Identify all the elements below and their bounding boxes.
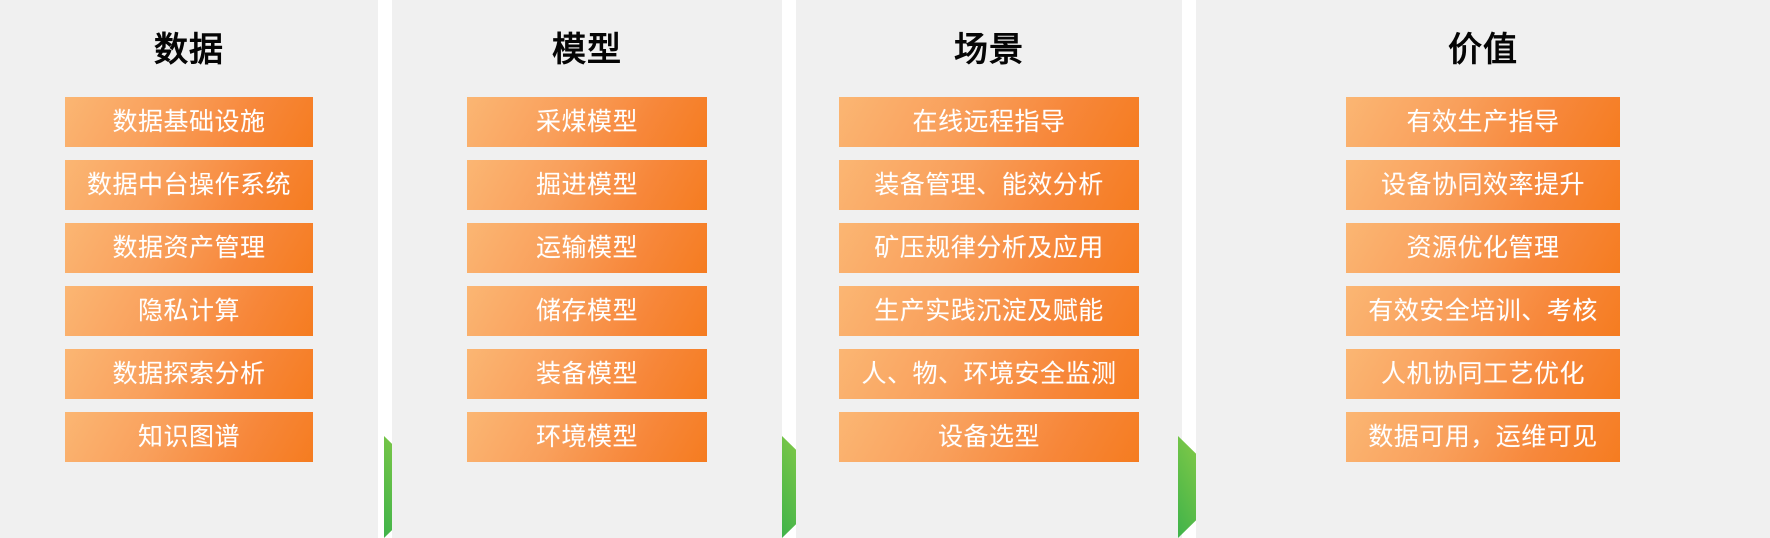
flow-item[interactable]: 掘进模型 [467, 160, 707, 210]
flow-item[interactable]: 生产实践沉淀及赋能 [839, 286, 1138, 336]
flow-item-label: 掘进模型 [536, 160, 638, 210]
flow-item-label: 生产实践沉淀及赋能 [874, 286, 1104, 336]
flow-item-label: 矿压规律分析及应用 [874, 223, 1104, 273]
flow-item-label: 人机协同工艺优化 [1381, 349, 1585, 399]
flow-item-label: 隐私计算 [138, 286, 240, 336]
flow-item-label: 数据探索分析 [112, 349, 265, 399]
flow-item-label: 数据资产管理 [112, 223, 265, 273]
flow-item-label: 数据中台操作系统 [87, 160, 291, 210]
column-items-value: 有效生产指导 设备协同效率提升 资源优化管理 有效安全培训、考核 人机协同工艺优… [1196, 97, 1770, 462]
flow-item-label: 装备管理、能效分析 [874, 160, 1104, 210]
flow-item-label: 储存模型 [536, 286, 638, 336]
flow-diagram: 数据 数据基础设施 数据中台操作系统 数据资产管理 隐私计算 数据探索分析 知识… [0, 0, 1770, 538]
flow-item[interactable]: 人、物、环境安全监测 [839, 349, 1138, 399]
flow-item-label: 环境模型 [536, 412, 638, 462]
column-items-scene: 在线远程指导 装备管理、能效分析 矿压规律分析及应用 生产实践沉淀及赋能 人、物… [796, 97, 1182, 462]
flow-item[interactable]: 储存模型 [467, 286, 707, 336]
flow-item[interactable]: 环境模型 [467, 412, 707, 462]
flow-column-value: 价值 有效生产指导 设备协同效率提升 资源优化管理 有效安全培训、考核 人机协同… [1196, 0, 1770, 538]
flow-item[interactable]: 资源优化管理 [1346, 223, 1620, 273]
flow-item[interactable]: 设备协同效率提升 [1346, 160, 1620, 210]
flow-item[interactable]: 数据可用，运维可见 [1346, 412, 1620, 462]
flow-item[interactable]: 知识图谱 [65, 412, 313, 462]
column-items-data: 数据基础设施 数据中台操作系统 数据资产管理 隐私计算 数据探索分析 知识图谱 [0, 97, 378, 462]
flow-column-scene: 场景 在线远程指导 装备管理、能效分析 矿压规律分析及应用 生产实践沉淀及赋能 … [796, 0, 1182, 538]
flow-item-label: 设备选型 [938, 412, 1040, 462]
flow-item-label: 资源优化管理 [1406, 223, 1559, 273]
flow-item-label: 装备模型 [536, 349, 638, 399]
flow-item[interactable]: 有效生产指导 [1346, 97, 1620, 147]
flow-item[interactable]: 人机协同工艺优化 [1346, 349, 1620, 399]
column-items-model: 采煤模型 掘进模型 运输模型 储存模型 装备模型 环境模型 [392, 97, 782, 462]
flow-item-label: 数据基础设施 [112, 97, 265, 147]
flow-item[interactable]: 数据探索分析 [65, 349, 313, 399]
flow-item-label: 在线远程指导 [912, 97, 1065, 147]
flow-item-label: 运输模型 [536, 223, 638, 273]
flow-column-data: 数据 数据基础设施 数据中台操作系统 数据资产管理 隐私计算 数据探索分析 知识… [0, 0, 378, 538]
column-title-data: 数据 [0, 28, 378, 72]
flow-item[interactable]: 在线远程指导 [839, 97, 1138, 147]
flow-item-label: 采煤模型 [536, 97, 638, 147]
flow-item[interactable]: 采煤模型 [467, 97, 707, 147]
flow-item[interactable]: 数据资产管理 [65, 223, 313, 273]
column-title-value: 价值 [1196, 28, 1770, 72]
flow-item[interactable]: 运输模型 [467, 223, 707, 273]
column-title-scene: 场景 [796, 28, 1182, 72]
flow-item-label: 数据可用，运维可见 [1368, 412, 1598, 462]
flow-column-model: 模型 采煤模型 掘进模型 运输模型 储存模型 装备模型 环境模型 [392, 0, 782, 538]
flow-item[interactable]: 矿压规律分析及应用 [839, 223, 1138, 273]
flow-item-label: 有效安全培训、考核 [1368, 286, 1598, 336]
flow-item-label: 人、物、环境安全监测 [861, 349, 1116, 399]
flow-item[interactable]: 设备选型 [839, 412, 1138, 462]
flow-item[interactable]: 装备管理、能效分析 [839, 160, 1138, 210]
flow-item[interactable]: 有效安全培训、考核 [1346, 286, 1620, 336]
flow-item-label: 设备协同效率提升 [1381, 160, 1585, 210]
flow-item[interactable]: 隐私计算 [65, 286, 313, 336]
flow-item-label: 有效生产指导 [1406, 97, 1559, 147]
flow-item[interactable]: 数据中台操作系统 [65, 160, 313, 210]
flow-item[interactable]: 数据基础设施 [65, 97, 313, 147]
flow-item-label: 知识图谱 [138, 412, 240, 462]
flow-item[interactable]: 装备模型 [467, 349, 707, 399]
column-title-model: 模型 [392, 28, 782, 72]
